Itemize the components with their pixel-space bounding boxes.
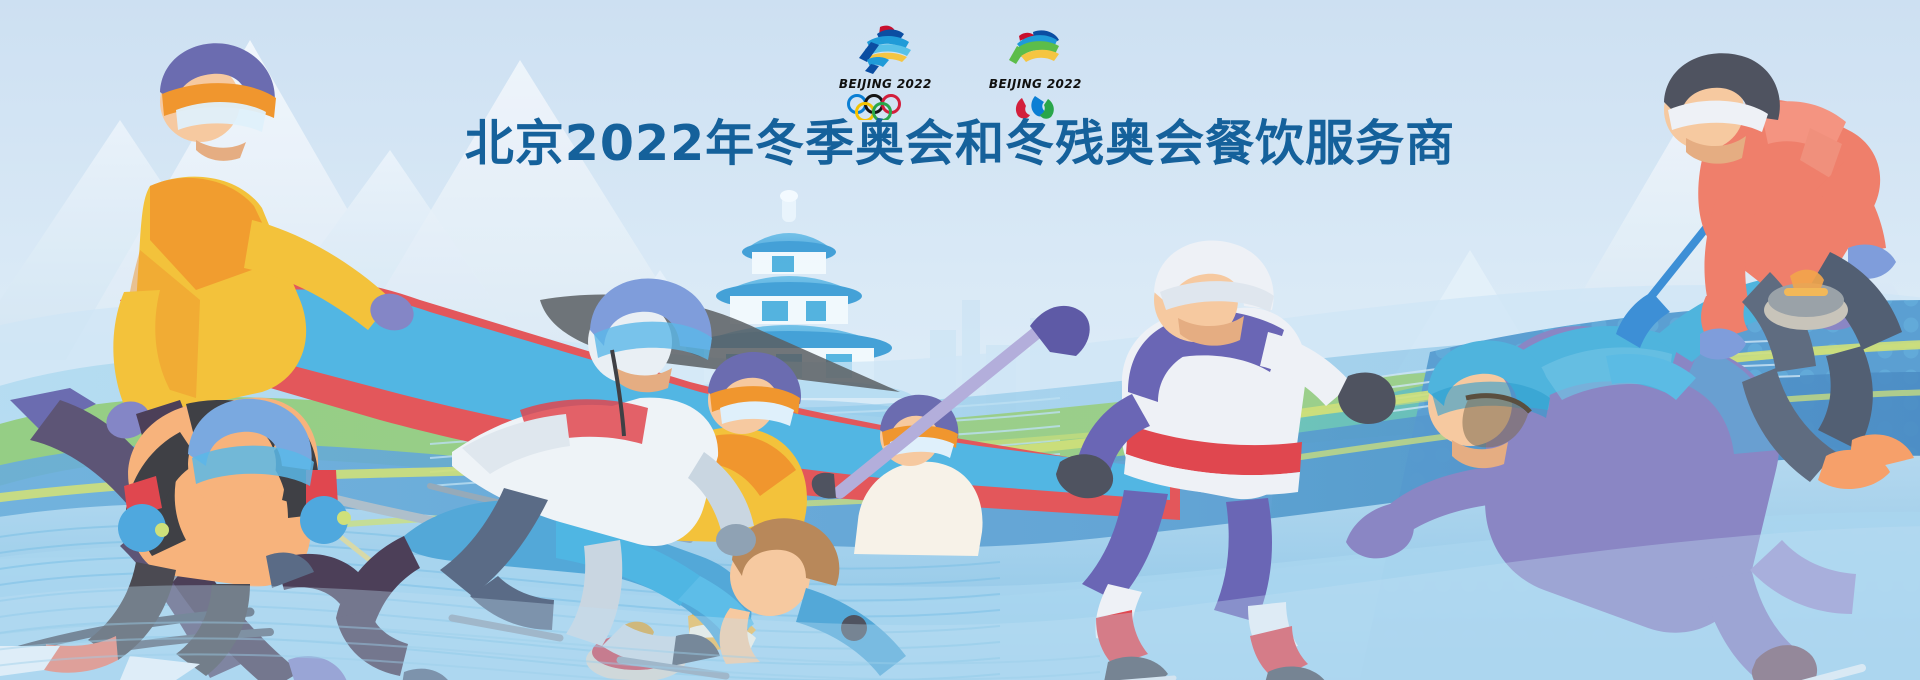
paralympic-emblem-icon	[997, 22, 1073, 74]
olympic-emblem-icon	[847, 22, 923, 74]
beijing-2022-banner: BEIJING 2022 BEIJING 2022	[0, 0, 1920, 680]
paralympic-emblem-block: BEIJING 2022	[982, 22, 1088, 120]
olympic-emblem-block: BEIJING 2022	[832, 22, 938, 120]
paralympic-wordmark: BEIJING 2022	[989, 76, 1082, 91]
emblem-row: BEIJING 2022 BEIJING 2022	[0, 22, 1920, 120]
olympic-wordmark: BEIJING 2022	[839, 76, 932, 91]
page-title: 北京2022年冬季奥会和冬残奥会餐饮服务商	[0, 117, 1920, 172]
